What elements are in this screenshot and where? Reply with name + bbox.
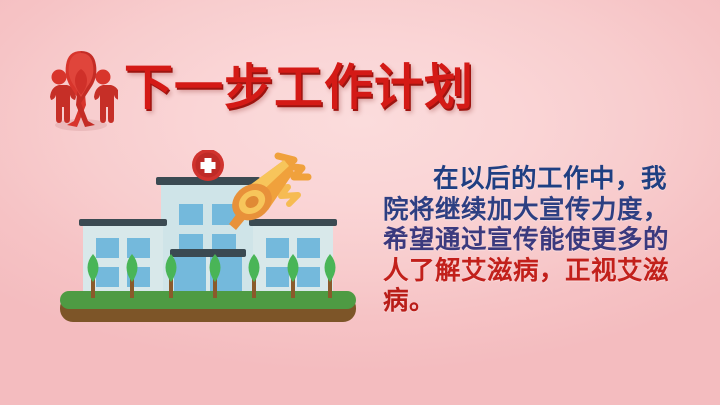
slide-canvas: 下一步工作计划	[0, 0, 720, 405]
page-title: 下一步工作计划	[124, 64, 474, 113]
body-line: 病。	[383, 286, 645, 317]
body-line: 希望通过宣传能使更多的	[383, 225, 645, 256]
grass-strip	[60, 291, 356, 309]
body-line: 在以后的工作中，我	[383, 164, 645, 195]
megaphone-icon	[225, 156, 308, 230]
hospital-illustration	[60, 150, 356, 328]
body-line: 院将继续加大宣传力度，	[383, 195, 645, 226]
aids-ribbon-icon	[44, 43, 118, 133]
body-line: 人了解艾滋病，正视艾滋	[383, 256, 645, 287]
slide-header: 下一步工作计划	[44, 42, 474, 134]
body-paragraph: 在以后的工作中，我 院将继续加大宣传力度， 希望通过宣传能使更多的 人了解艾滋病…	[383, 164, 645, 317]
